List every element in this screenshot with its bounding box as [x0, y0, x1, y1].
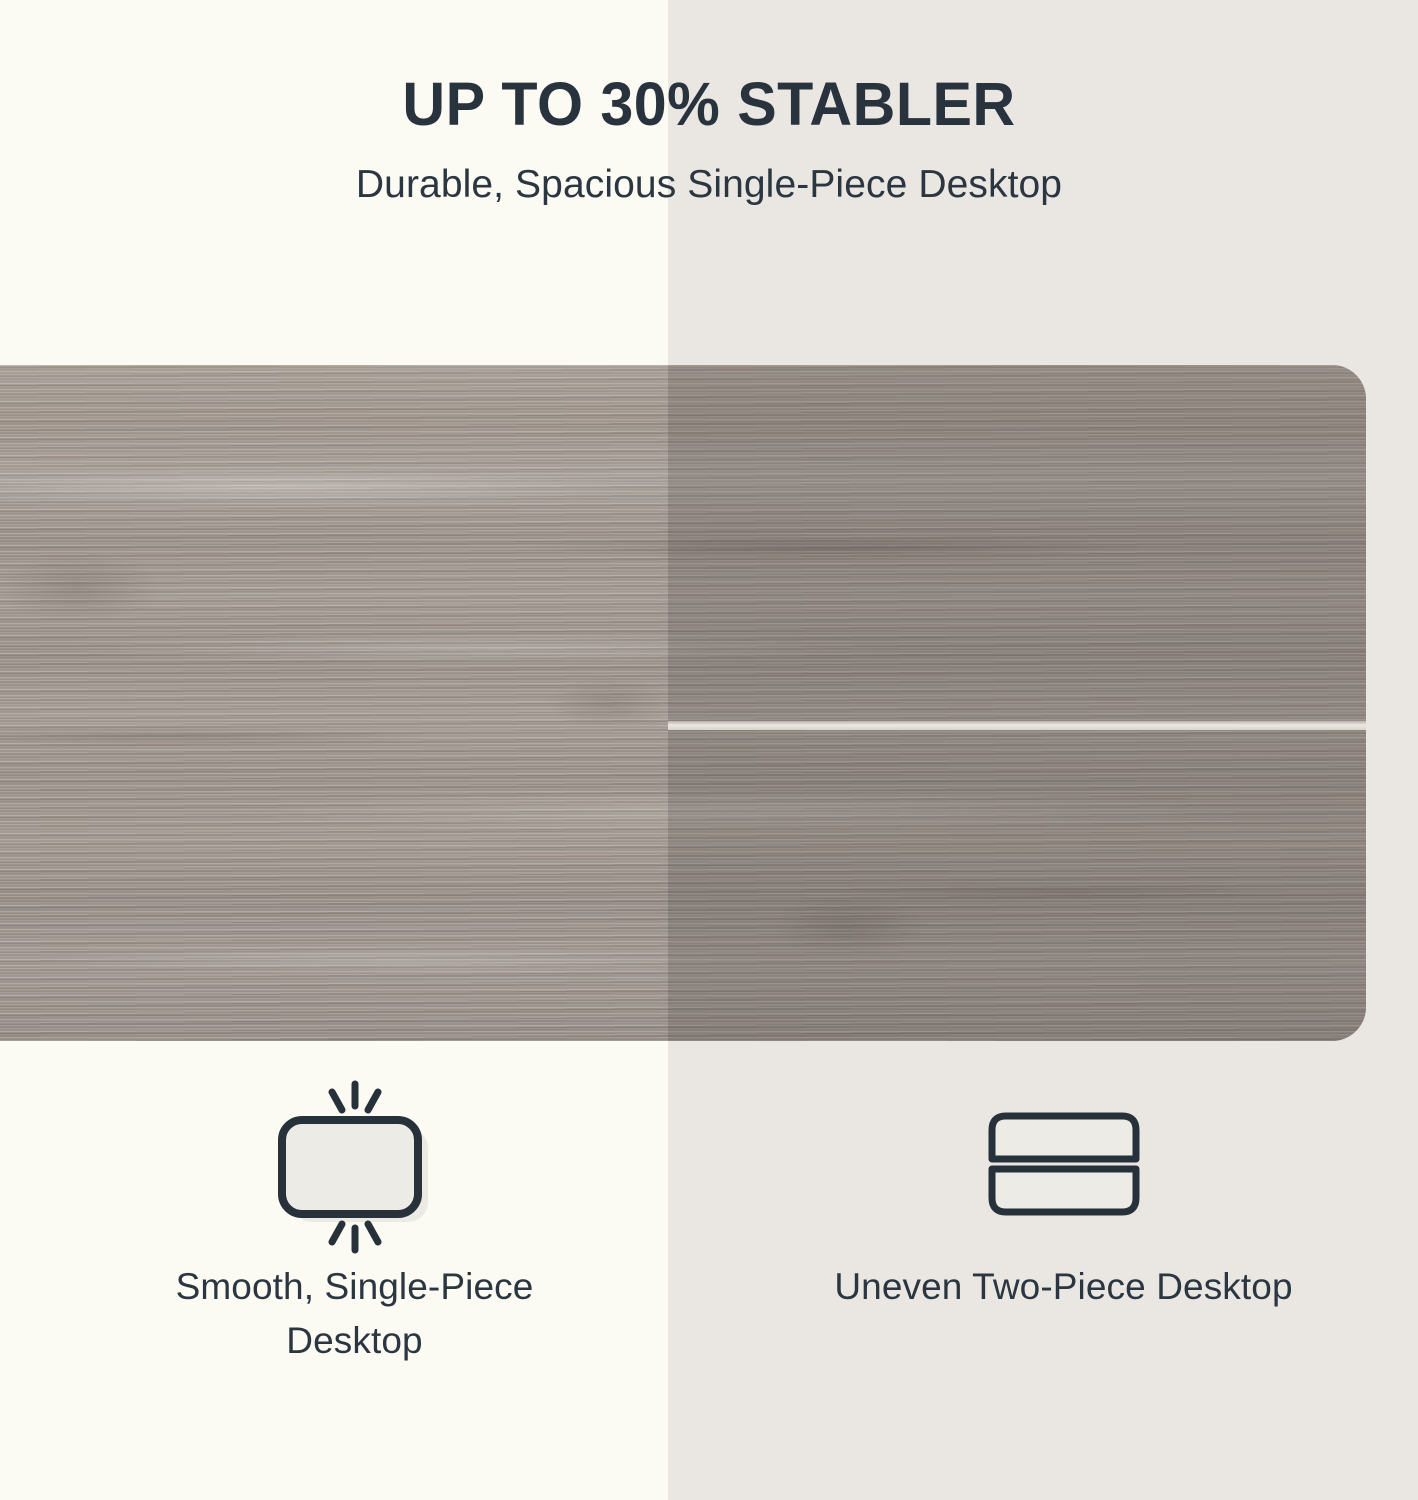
comparison-caption-left: Smooth, Single-Piece Desktop: [125, 1260, 585, 1367]
page-subtitle: Durable, Spacious Single-Piece Desktop: [0, 137, 1418, 208]
comparison-row: Smooth, Single-Piece Desktop Uneven Two-…: [0, 1075, 1418, 1435]
two-stacked-panels-icon: [984, 1075, 1144, 1260]
infographic-root: UP TO 30% STABLER Durable, Spacious Sing…: [0, 0, 1418, 1500]
comparison-column-left: Smooth, Single-Piece Desktop: [0, 1075, 709, 1435]
comparison-column-right: Uneven Two-Piece Desktop: [709, 1075, 1418, 1435]
page-title: UP TO 30% STABLER: [21, 0, 1396, 137]
comparison-caption-right: Uneven Two-Piece Desktop: [834, 1260, 1292, 1314]
header: UP TO 30% STABLER Durable, Spacious Sing…: [0, 0, 1418, 208]
single-panel-shine-icon: [260, 1075, 450, 1260]
desktop-surface-image: [0, 365, 1366, 1041]
right-half-shade-overlay: [668, 365, 1366, 1041]
two-piece-seam-line: [668, 721, 1366, 730]
